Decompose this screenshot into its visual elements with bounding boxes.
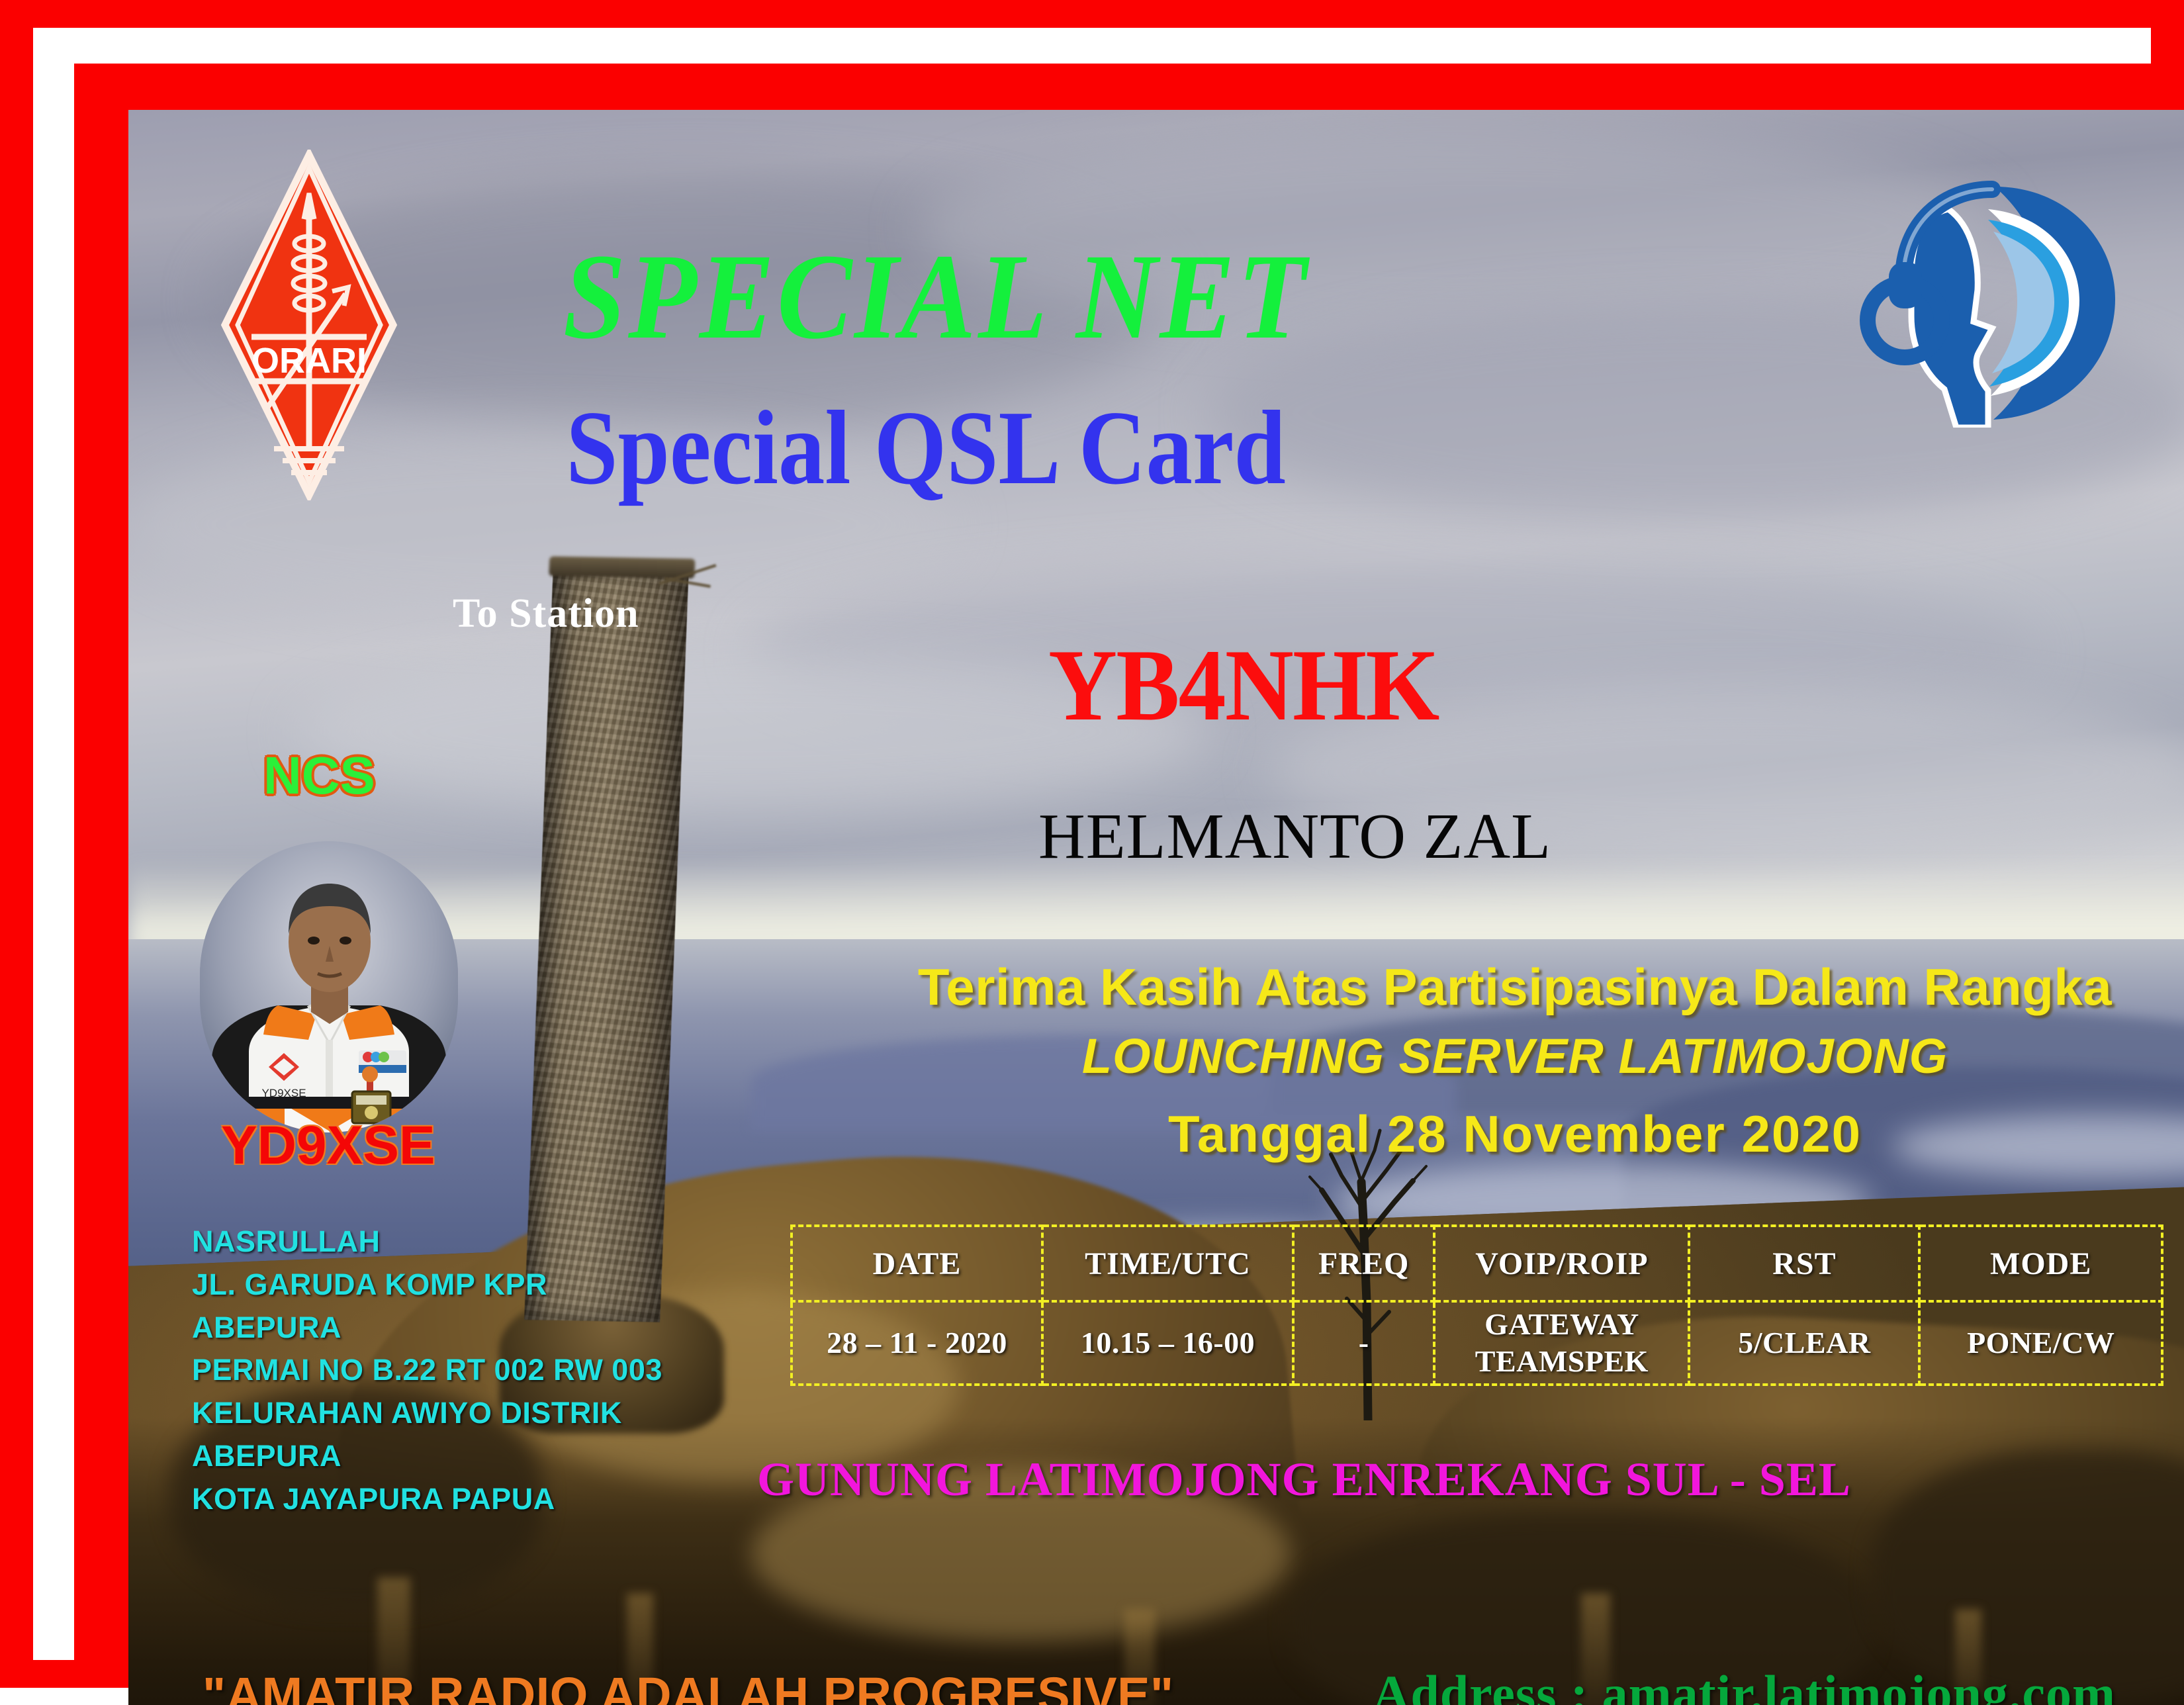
ncs-label: NCS (263, 745, 375, 806)
cell-voip-line2: TEAMSPEK (1475, 1344, 1649, 1378)
address-line: NASRULLAH (192, 1221, 662, 1264)
column-header-time: TIME/UTC (1042, 1226, 1293, 1301)
thanks-line-3: Tanggal 28 November 2020 (850, 1104, 2180, 1164)
address-line: JL. GARUDA KOMP KPR (192, 1264, 662, 1307)
page-title: SPECIAL NET (193, 236, 1679, 358)
recipient-operator-name: HELMANTO ZAL (1038, 800, 1551, 874)
column-header-mode: MODE (1919, 1226, 2162, 1301)
qso-log-table: DATE TIME/UTC FREQ VOIP/ROIP RST MODE 28… (790, 1224, 2163, 1386)
location-text: GUNUNG LATIMOJONG ENREKANG SUL - SEL (757, 1452, 1851, 1507)
column-header-date: DATE (792, 1226, 1042, 1301)
ncs-operator-photo: YD9XSE (200, 841, 458, 1132)
column-header-freq: FREQ (1293, 1226, 1434, 1301)
cell-voip-line1: GATEWAY (1484, 1307, 1639, 1341)
footer-web-address: Address : amatir.latimojong.com (1373, 1664, 2116, 1705)
table-row: 28 – 11 - 2020 10.15 – 16-00 - GATEWAY T… (792, 1301, 2162, 1385)
address-line: KELURAHAN AWIYO DISTRIK (192, 1392, 662, 1435)
ncs-callsign: YD9XSE (221, 1115, 435, 1177)
cell-time: 10.15 – 16-00 (1042, 1301, 1293, 1385)
motto-text: "AMATIR RADIO ADALAH PROGRESIVE" (203, 1667, 1174, 1705)
cell-date: 28 – 11 - 2020 (792, 1301, 1042, 1385)
sender-address-block: NASRULLAH JL. GARUDA KOMP KPR ABEPURA PE… (192, 1221, 662, 1521)
recipient-callsign: YB4NHK (1048, 626, 1439, 745)
card-frame-white-gap: ORARI (33, 28, 2151, 1660)
page-subtitle: Special QSL Card (224, 394, 1628, 500)
column-header-voip: VOIP/ROIP (1434, 1226, 1689, 1301)
cell-mode: PONE/CW (1919, 1301, 2162, 1385)
card-outer-frame: ORARI (0, 0, 2184, 1688)
thanks-line-1: Terima Kasih Atas Partisipasinya Dalam R… (850, 957, 2180, 1017)
address-line: PERMAI NO B.22 RT 002 RW 003 (192, 1349, 662, 1392)
headphone-profile-logo (1856, 163, 2120, 428)
column-header-rst: RST (1689, 1226, 1919, 1301)
thanks-message-block: Terima Kasih Atas Partisipasinya Dalam R… (850, 957, 2180, 1164)
cell-freq: - (1293, 1301, 1434, 1385)
cell-rst: 5/CLEAR (1689, 1301, 1919, 1385)
to-station-label: To Station (453, 590, 639, 637)
address-line: ABEPURA (192, 1435, 662, 1478)
thanks-line-2: LOUNCHING SERVER LATIMOJONG (850, 1028, 2180, 1084)
uniform-callsign-text: YD9XSE (261, 1087, 306, 1099)
background-photograph: ORARI (128, 110, 2184, 1705)
cell-voip: GATEWAY TEAMSPEK (1434, 1301, 1689, 1385)
address-line: ABEPURA (192, 1307, 662, 1350)
table-header-row: DATE TIME/UTC FREQ VOIP/ROIP RST MODE (792, 1226, 2162, 1301)
card-frame-inner-red: ORARI (74, 64, 2176, 1680)
address-line: KOTA JAYAPURA PAPUA (192, 1478, 662, 1521)
